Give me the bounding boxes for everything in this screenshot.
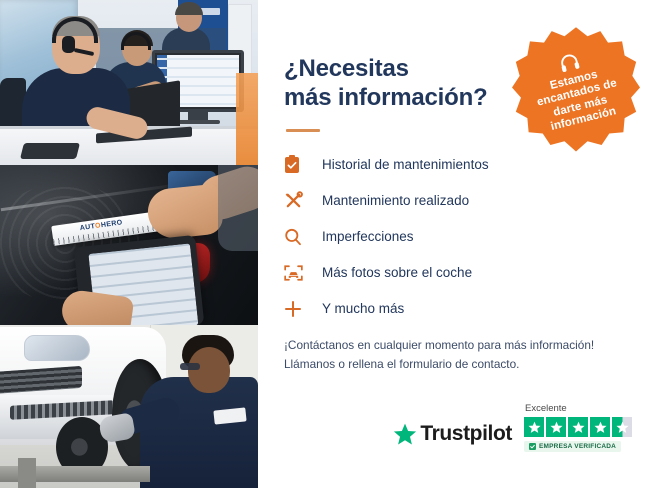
clipboard-check-icon — [284, 154, 310, 176]
feature-label: Imperfecciones — [322, 229, 414, 244]
desk-tablet — [20, 143, 80, 159]
content-panel: Estamos encantados de darte más informac… — [258, 0, 650, 488]
feature-label: Historial de mantenimientos — [322, 157, 489, 172]
orange-rack — [236, 73, 258, 165]
trustpilot-widget[interactable]: Trustpilot Excelente — [393, 403, 632, 452]
note-line-2: Llámanos o rellena el formulario de cont… — [284, 357, 519, 371]
trustpilot-rating: Excelente — [524, 403, 632, 452]
magnifier-icon — [284, 226, 310, 248]
star-filled — [568, 417, 588, 437]
contact-note: ¡Contáctanos en cualquier momento para m… — [284, 336, 624, 374]
list-item[interactable]: Historial de mantenimientos — [284, 154, 624, 176]
trustpilot-star-icon — [393, 423, 417, 446]
feature-label: Y mucho más — [322, 301, 404, 316]
car-inspection-ruler-photo: AUTOHERO — [0, 165, 258, 325]
promo-card: AUTOHERO — [0, 0, 650, 488]
trustpilot-wordmark: Trustpilot — [420, 422, 512, 446]
verified-label: EMPRESA VERIFICADA — [539, 443, 616, 450]
list-item[interactable]: Imperfecciones — [284, 226, 624, 248]
star-half — [612, 417, 632, 437]
check-badge-icon — [529, 443, 536, 450]
title-divider — [286, 129, 320, 132]
note-line-1: ¡Contáctanos en cualquier momento para m… — [284, 338, 594, 352]
list-item[interactable]: Más fotos sobre el coche — [284, 262, 624, 284]
page-title: ¿Necesitas más información? — [284, 54, 514, 113]
star-filled — [524, 417, 544, 437]
technician-body — [140, 377, 258, 488]
verified-business-badge: EMPRESA VERIFICADA — [524, 441, 621, 452]
star-filled — [546, 417, 566, 437]
monitor-base — [176, 120, 220, 124]
car-lift-post — [18, 458, 36, 488]
feature-label: Más fotos sobre el coche — [322, 265, 472, 280]
technician-wheel-photo — [0, 325, 258, 488]
inspector-hand-upper — [146, 183, 225, 240]
info-badge: Estamos encantados de darte más informac… — [512, 26, 640, 152]
plus-icon — [284, 298, 310, 320]
trustpilot-logo: Trustpilot — [393, 422, 512, 446]
heading-line-2: más información? — [284, 84, 488, 111]
star-filled — [590, 417, 610, 437]
car-scan-icon — [284, 262, 310, 284]
star-rating — [524, 417, 632, 437]
rating-label: Excelente — [525, 403, 567, 414]
photo-collage: AUTOHERO — [0, 0, 258, 488]
list-item[interactable]: Y mucho más — [284, 298, 624, 320]
car-headlight — [24, 335, 90, 361]
wrench-screwdriver-icon — [284, 190, 310, 212]
feature-label: Mantenimiento realizado — [322, 193, 469, 208]
safety-glasses — [180, 363, 200, 370]
technician-head — [188, 347, 230, 393]
list-item[interactable]: Mantenimiento realizado — [284, 190, 624, 212]
feature-list: Historial de mantenimientos Mantenimient… — [284, 154, 624, 320]
starburst-shape — [512, 26, 640, 154]
background-person — [218, 165, 258, 251]
call-center-agents-photo — [0, 0, 258, 165]
heading-line-1: ¿Necesitas — [284, 55, 409, 82]
